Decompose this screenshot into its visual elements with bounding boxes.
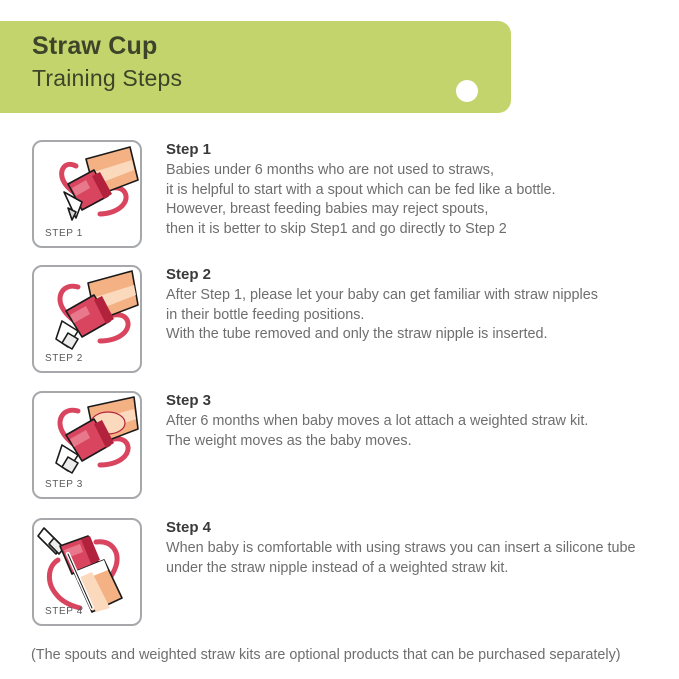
header-banner: Straw Cup Training Steps bbox=[0, 21, 511, 113]
punch-hole-circle-icon bbox=[456, 80, 478, 102]
step-text-block: Step 4 When baby is comfortable with usi… bbox=[166, 518, 671, 578]
step-description: When baby is comfortable with using stra… bbox=[166, 539, 671, 578]
step-thumb-label: STEP 4 bbox=[45, 606, 83, 617]
step-heading: Step 2 bbox=[166, 265, 671, 285]
step-illustration-4: STEP 4 bbox=[32, 518, 142, 626]
step-illustration-1: STEP 1 bbox=[32, 140, 142, 248]
step-thumb-label: STEP 1 bbox=[45, 228, 83, 239]
step-thumb-label: STEP 2 bbox=[45, 353, 83, 364]
step-description: Babies under 6 months who are not used t… bbox=[166, 161, 671, 239]
page-subtitle: Training Steps bbox=[32, 67, 182, 90]
step-description: After 6 months when baby moves a lot att… bbox=[166, 412, 671, 451]
step-heading: Step 1 bbox=[166, 140, 671, 160]
step-text-block: Step 3 After 6 months when baby moves a … bbox=[166, 391, 671, 451]
step-heading: Step 3 bbox=[166, 391, 671, 411]
page-title: Straw Cup bbox=[32, 34, 157, 59]
step-heading: Step 4 bbox=[166, 518, 671, 538]
step-illustration-3: STEP 3 bbox=[32, 391, 142, 499]
step-illustration-2: STEP 2 bbox=[32, 265, 142, 373]
step-text-block: Step 2 After Step 1, please let your bab… bbox=[166, 265, 671, 345]
step-thumb-label: STEP 3 bbox=[45, 479, 83, 490]
step-description: After Step 1, please let your baby can g… bbox=[166, 286, 671, 345]
step-text-block: Step 1 Babies under 6 months who are not… bbox=[166, 140, 671, 239]
straw-cup-training-poster: Straw Cup Training Steps STEP 1 bbox=[0, 0, 679, 679]
footer-note: (The spouts and weighted straw kits are … bbox=[31, 645, 621, 665]
